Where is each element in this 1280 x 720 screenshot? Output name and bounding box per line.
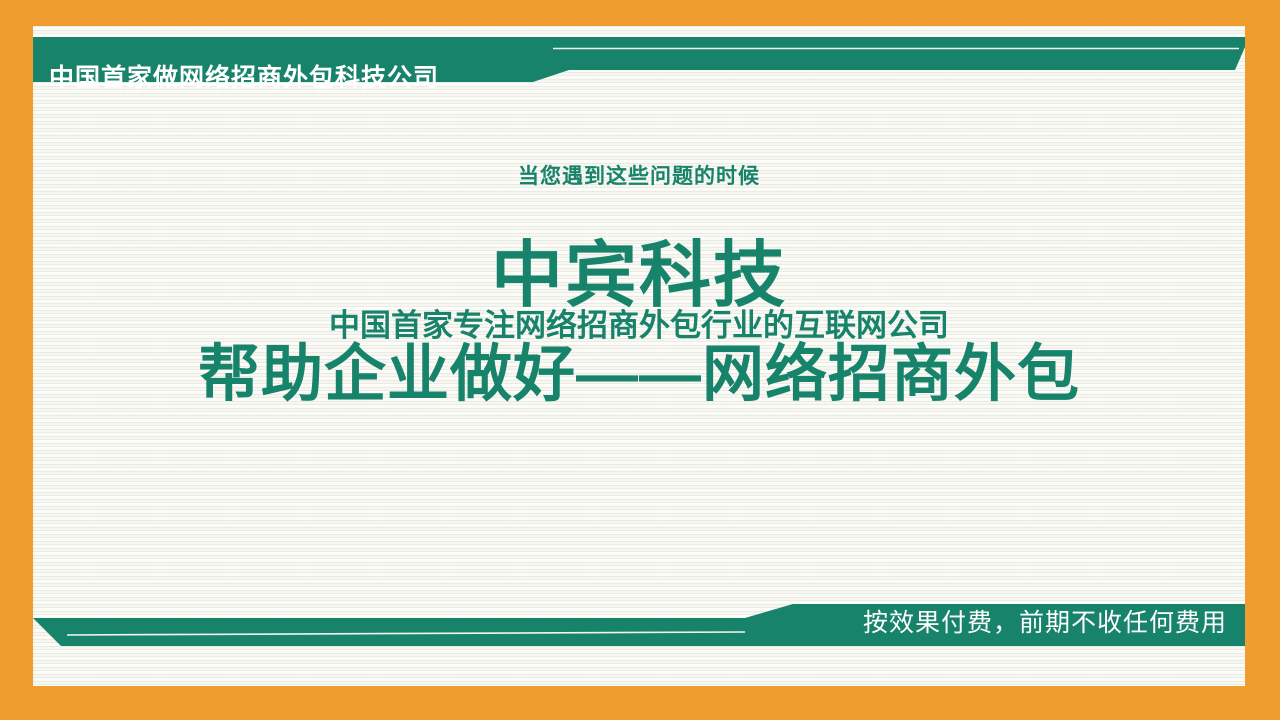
slide-page-surface: 中国首家做网络招商外包科技公司 当您遇到这些问题的时候 中宾科技 中国首家专注网… <box>33 26 1245 686</box>
eyebrow-text: 当您遇到这些问题的时候 <box>33 164 1245 189</box>
header-title: 中国首家做网络招商外包科技公司 <box>49 66 439 91</box>
main-copy-block: 当您遇到这些问题的时候 中宾科技 中国首家专注网络招商外包行业的互联网公司 帮助… <box>33 164 1245 407</box>
main-headline: 帮助企业做好——网络招商外包 <box>33 342 1245 407</box>
footer-hairline <box>67 632 745 635</box>
slide-root: 中国首家做网络招商外包科技公司 当您遇到这些问题的时候 中宾科技 中国首家专注网… <box>0 0 1280 720</box>
footer-tagline: 按效果付费，前期不收任何费用 <box>863 611 1227 636</box>
brand-title: 中宾科技 <box>33 241 1245 312</box>
brand-tagline: 中国首家专注网络招商外包行业的互联网公司 <box>33 310 1245 343</box>
